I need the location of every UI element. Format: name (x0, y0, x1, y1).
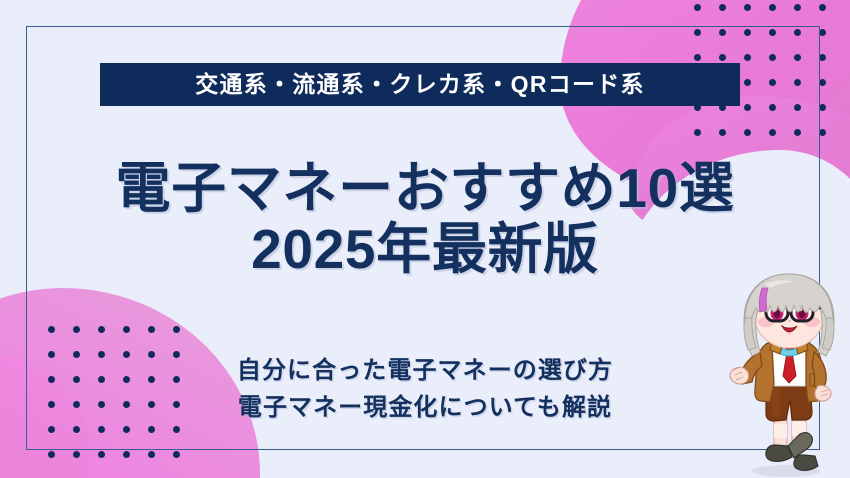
decor-dot (794, 79, 801, 86)
decor-dot (744, 104, 751, 111)
decor-dot (173, 451, 180, 458)
category-ribbon: 交通系・流通系・クレカ系・QRコード系 (100, 63, 740, 106)
page-title: 電子マネーおすすめ10選 2025年最新版 (0, 160, 850, 277)
decor-dot (694, 29, 701, 36)
banner-root: 交通系・流通系・クレカ系・QRコード系 電子マネーおすすめ10選 2025年最新… (0, 0, 850, 478)
decor-dot (73, 326, 80, 333)
decor-dot (769, 79, 776, 86)
decor-dot (48, 451, 55, 458)
decor-dot (794, 54, 801, 61)
decor-dot (173, 326, 180, 333)
decor-dot (148, 426, 155, 433)
chibi-character-illustration (722, 266, 844, 478)
decor-dot (744, 54, 751, 61)
decor-dot (819, 54, 826, 61)
decor-dot (48, 326, 55, 333)
decor-dot (744, 4, 751, 11)
decor-dot (148, 451, 155, 458)
decor-dot (819, 129, 826, 136)
decor-dot (794, 129, 801, 136)
decor-dot (694, 54, 701, 61)
decor-dot (744, 79, 751, 86)
decor-dot (173, 426, 180, 433)
decor-dot (819, 4, 826, 11)
category-ribbon-label: 交通系・流通系・クレカ系・QRコード系 (195, 73, 645, 96)
decor-dot (744, 129, 751, 136)
decor-dot (123, 426, 130, 433)
decor-dot (719, 4, 726, 11)
decor-dot (769, 54, 776, 61)
decor-dot (769, 129, 776, 136)
page-title-line-1: 電子マネーおすすめ10選 (0, 160, 850, 217)
decor-dot (819, 29, 826, 36)
decor-dot (719, 54, 726, 61)
decor-dot (123, 326, 130, 333)
decor-dot (148, 326, 155, 333)
decor-dot (73, 451, 80, 458)
decor-dot (719, 129, 726, 136)
decor-dot (819, 79, 826, 86)
decor-dot (794, 104, 801, 111)
decor-dot (769, 4, 776, 11)
decor-dot (769, 104, 776, 111)
decor-dot (694, 4, 701, 11)
decor-dot (123, 451, 130, 458)
decor-dot (719, 29, 726, 36)
decor-dot (794, 4, 801, 11)
decor-dot (98, 451, 105, 458)
decor-dot (819, 104, 826, 111)
decor-dot (98, 426, 105, 433)
decor-dot (694, 129, 701, 136)
decor-dot (744, 29, 751, 36)
decor-dot (48, 426, 55, 433)
decor-dot (769, 29, 776, 36)
decor-dot (98, 326, 105, 333)
decor-dot (794, 29, 801, 36)
decor-dot (73, 426, 80, 433)
